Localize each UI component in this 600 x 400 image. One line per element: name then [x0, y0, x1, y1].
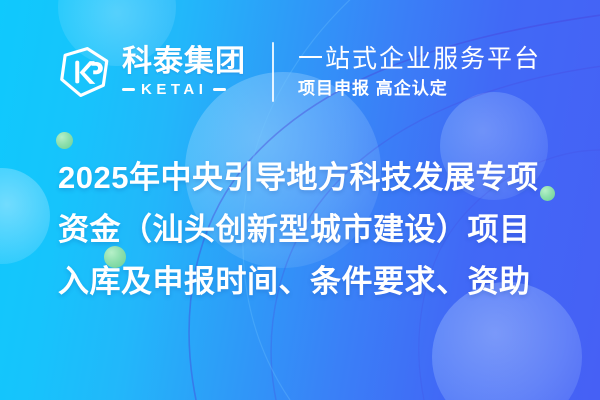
promo-banner: 科泰集团 KETAI 一站式企业服务平台 项目申报 高企认定 2025年中央引导… [0, 0, 600, 400]
banner-title: 2025年中央引导地方科技发展专项 资金（汕头创新型城市建设）项目 入库及申报时… [58, 152, 570, 308]
dash-left-icon [122, 88, 135, 91]
brand-logo-text: 科泰集团 KETAI [122, 46, 246, 98]
brand-name-en-row: KETAI [122, 81, 246, 98]
ketai-kp-monogram-icon [56, 44, 112, 100]
decorative-blob-left-edge [0, 168, 50, 264]
tagline-primary: 一站式企业服务平台 [298, 45, 541, 75]
brand-name-en: KETAI [141, 81, 207, 98]
header-divider [272, 42, 274, 102]
decorative-dot-green-1 [56, 132, 73, 149]
tagline-secondary: 项目申报 高企认定 [298, 78, 541, 99]
title-line-1: 2025年中央引导地方科技发展专项 [58, 152, 570, 204]
title-line-3: 入库及申报时间、条件要求、资助 [58, 256, 570, 308]
dash-right-icon [213, 88, 226, 91]
banner-header: 科泰集团 KETAI 一站式企业服务平台 项目申报 高企认定 [0, 34, 600, 110]
brand-logo[interactable]: 科泰集团 KETAI [56, 44, 246, 100]
tagline-block: 一站式企业服务平台 项目申报 高企认定 [298, 45, 541, 100]
brand-name-cn: 科泰集团 [122, 46, 246, 78]
title-line-2: 资金（汕头创新型城市建设）项目 [58, 204, 570, 256]
